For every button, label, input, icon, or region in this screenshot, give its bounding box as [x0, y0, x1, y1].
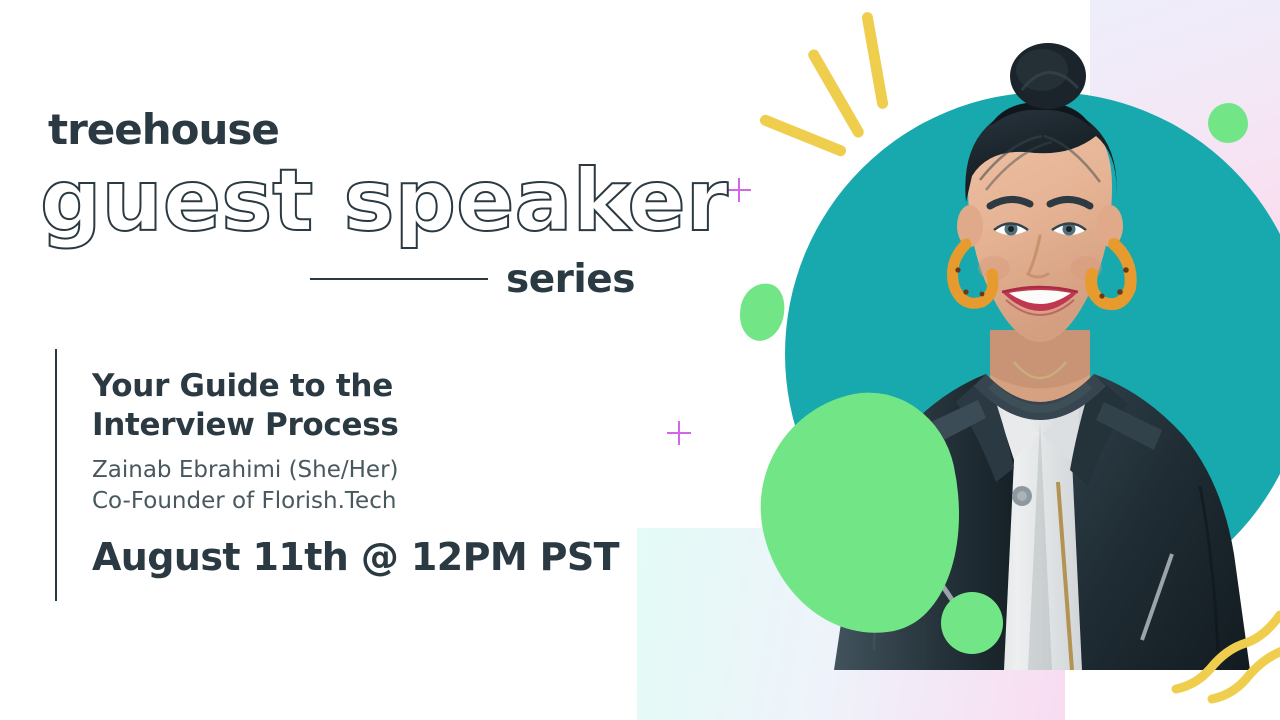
headline-outline: guest speaker — [40, 158, 728, 244]
yellow-wave-icon-group — [1170, 585, 1280, 705]
promo-graphic: treehouse guest speaker series Your Guid… — [0, 0, 1280, 720]
brand-wordmark: treehouse — [48, 105, 279, 154]
series-label: series — [506, 257, 635, 302]
session-title: Your Guide to the Interview Process — [92, 367, 632, 445]
series-row: series — [310, 255, 623, 303]
magenta-plus-icon-1 — [727, 178, 751, 202]
magenta-plus-icon-2 — [667, 421, 691, 445]
series-divider-rule — [310, 278, 488, 280]
speaker-name: Zainab Ebrahimi (She/Her) — [92, 455, 632, 486]
session-info-block: Your Guide to the Interview Process Zain… — [92, 367, 632, 579]
speaker-role: Co-Founder of Florish.Tech — [92, 486, 632, 517]
yellow-wave-icon — [1170, 585, 1280, 705]
session-date-time: August 11th @ 12PM PST — [92, 535, 632, 579]
info-vertical-rule — [55, 349, 57, 601]
green-blob-bottom-icon — [941, 592, 1003, 654]
green-blob-small-icon — [734, 279, 791, 346]
